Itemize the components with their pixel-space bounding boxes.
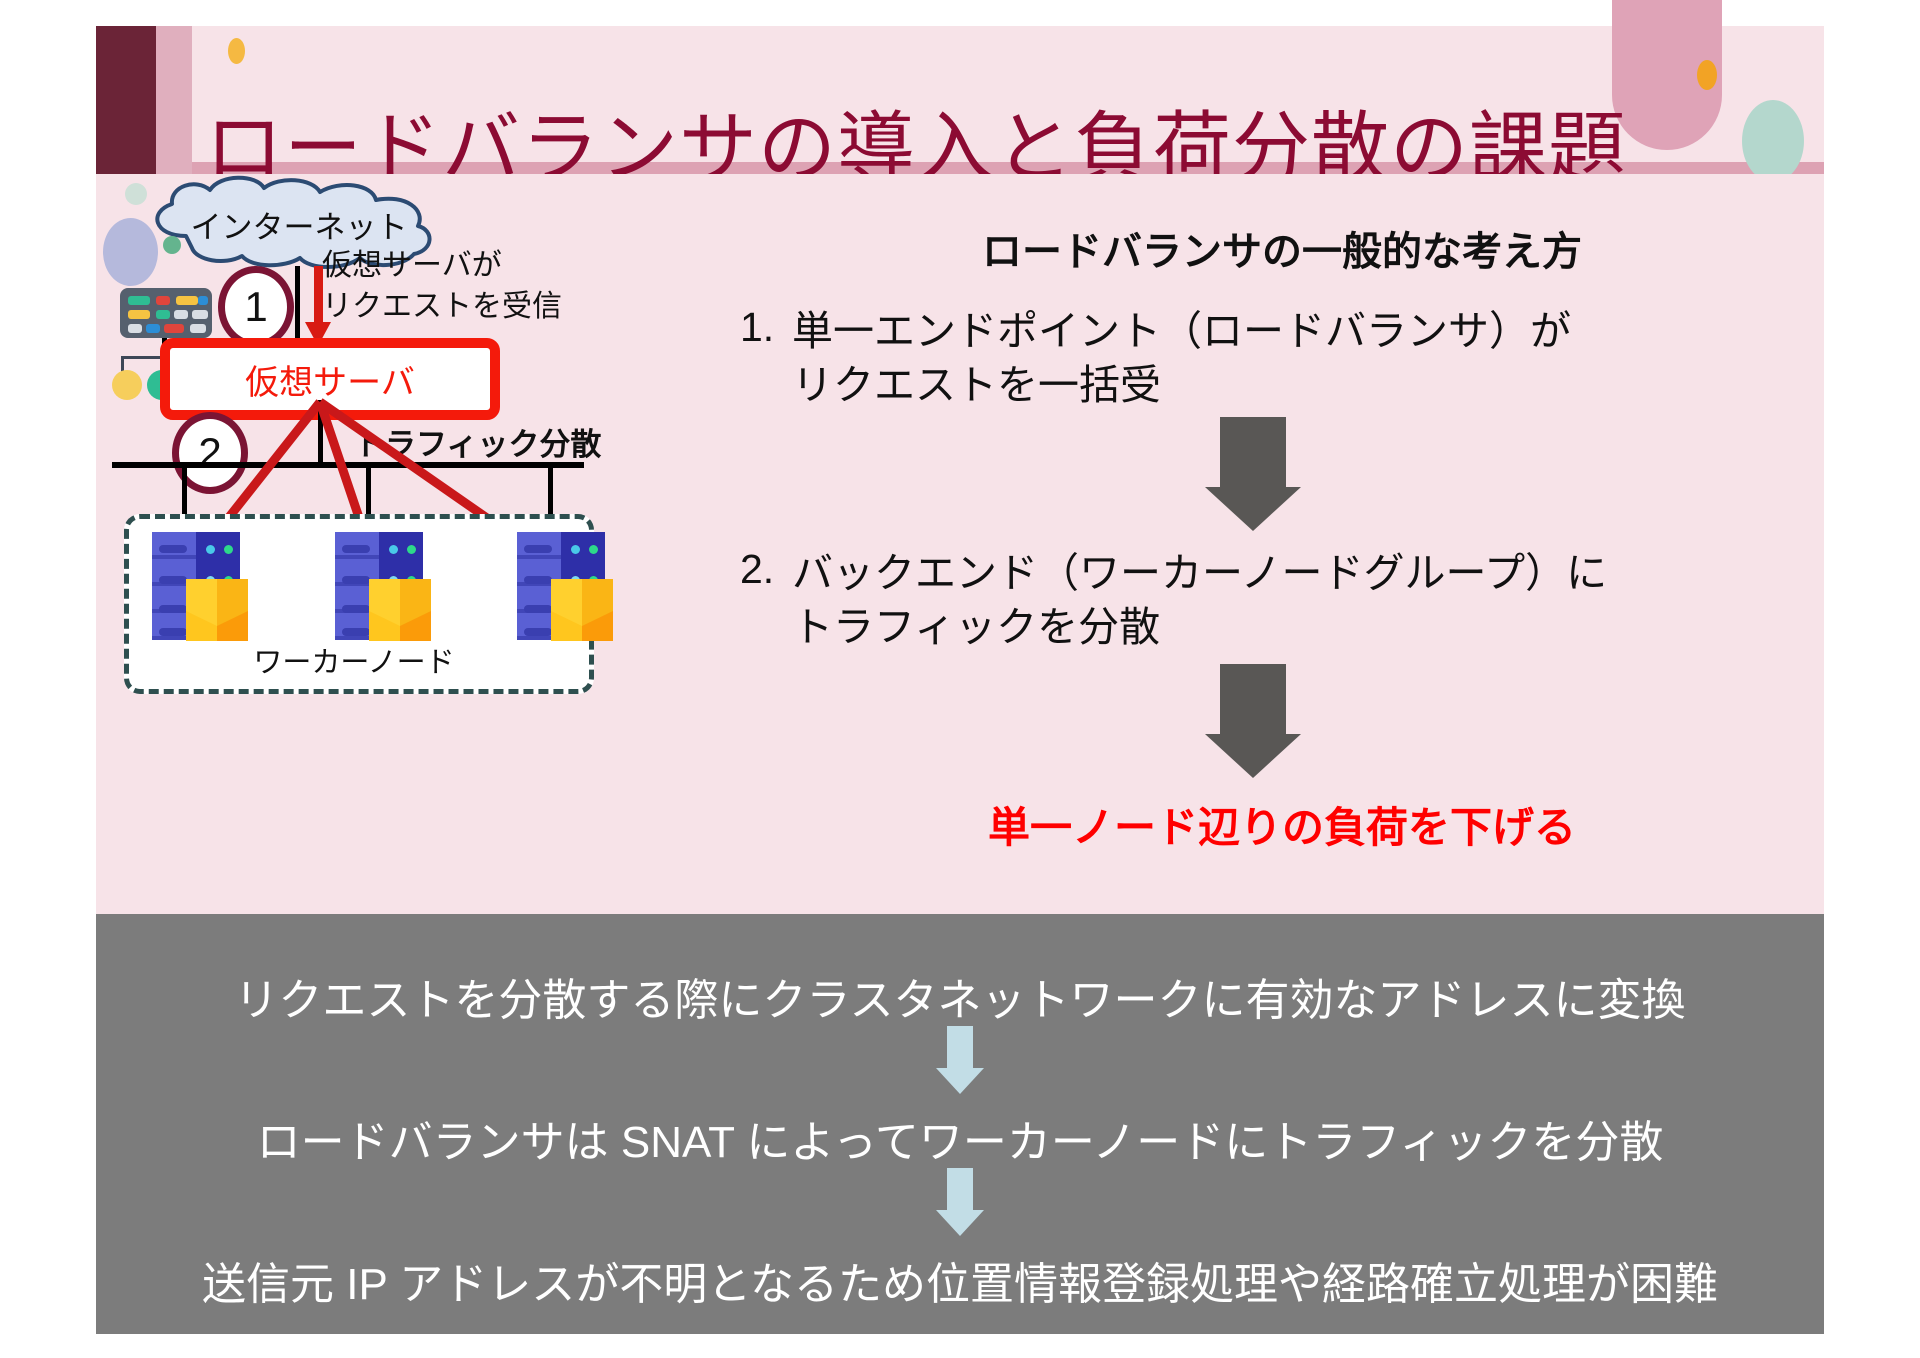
cloud-to-server-line bbox=[295, 266, 300, 344]
issue-line-3: 送信元 IP アドレスが不明となるため位置情報登録処理や経路確立処理が困難 bbox=[96, 1248, 1824, 1312]
flow-arrow-2-head bbox=[1205, 734, 1301, 778]
virtual-server-label: 仮想サーバ bbox=[245, 355, 415, 404]
internet-cloud: インターネット bbox=[134, 174, 464, 274]
worker-node-1 bbox=[152, 532, 240, 640]
decor-orange-dot-left bbox=[228, 38, 245, 64]
list-item-2-line2: トラフィックを分散 bbox=[792, 600, 1160, 654]
virtual-server-box[interactable]: 仮想サーバ bbox=[160, 338, 500, 420]
issue-arrow-1 bbox=[930, 1026, 990, 1096]
issue-line-2: ロードバランサは SNAT によってワーカーノードにトラフィックを分散 bbox=[96, 1106, 1824, 1170]
flow-arrow-2-stem bbox=[1220, 664, 1286, 734]
issue-arrow-2 bbox=[930, 1168, 990, 1238]
worker-node-3 bbox=[517, 532, 605, 640]
envelope-icon bbox=[186, 579, 248, 641]
list-item-1-line2: リクエストを一括受 bbox=[792, 358, 1161, 412]
vs-to-bus-line bbox=[318, 400, 323, 464]
step-badge-2-label: 2 bbox=[198, 429, 221, 477]
internet-cloud-label: インターネット bbox=[134, 174, 464, 274]
worker-node-2 bbox=[335, 532, 423, 640]
list-item-2-line1: バックエンド（ワーカーノードグループ）に bbox=[792, 546, 1607, 600]
decor-teal-ellipse-right bbox=[1742, 100, 1804, 182]
step-badge-1-label: 1 bbox=[244, 283, 267, 331]
list-item-2-number: 2. bbox=[740, 546, 774, 593]
network-diagram: インターネット 1 仮想サーバが リクエストを受信 bbox=[96, 174, 736, 914]
issue-line-1: リクエストを分散する際にクラスタネットワークに有効なアドレスに変換 bbox=[96, 964, 1824, 1028]
list-item-1-number: 1. bbox=[740, 304, 774, 351]
flow-arrow-1-head bbox=[1205, 487, 1301, 531]
explanation-heading: ロードバランサの一般的な考え方 bbox=[740, 219, 1824, 277]
slide-root: ロードバランサの導入と負荷分散の課題 インターネット 1 仮想サーバが リクエス… bbox=[0, 0, 1920, 1358]
list-item-1-line1: 単一エンドポイント（ロードバランサ）が bbox=[792, 304, 1571, 358]
issue-panel: リクエストを分散する際にクラスタネットワークに有効なアドレスに変換 ロードバラン… bbox=[96, 914, 1824, 1334]
title-accent-bar-secondary bbox=[156, 26, 192, 174]
envelope-icon bbox=[369, 579, 431, 641]
router-icon bbox=[120, 288, 212, 338]
step-badge-1: 1 bbox=[218, 266, 294, 348]
lan-dot-yellow bbox=[112, 370, 142, 400]
explanation-column: ロードバランサの一般的な考え方 1. 単一エンドポイント（ロードバランサ）が リ… bbox=[740, 174, 1824, 914]
flow-arrow-1-stem bbox=[1220, 417, 1286, 487]
worker-node-group-label: ワーカーノード bbox=[124, 639, 584, 681]
step2-annotation: トラフィック分散 bbox=[354, 419, 601, 464]
step1-annotation-line2: リクエストを受信 bbox=[322, 289, 562, 325]
conclusion-text: 単一ノード辺りの負荷を下げる bbox=[740, 794, 1824, 855]
envelope-icon bbox=[551, 579, 613, 641]
title-accent-bar bbox=[96, 26, 156, 174]
